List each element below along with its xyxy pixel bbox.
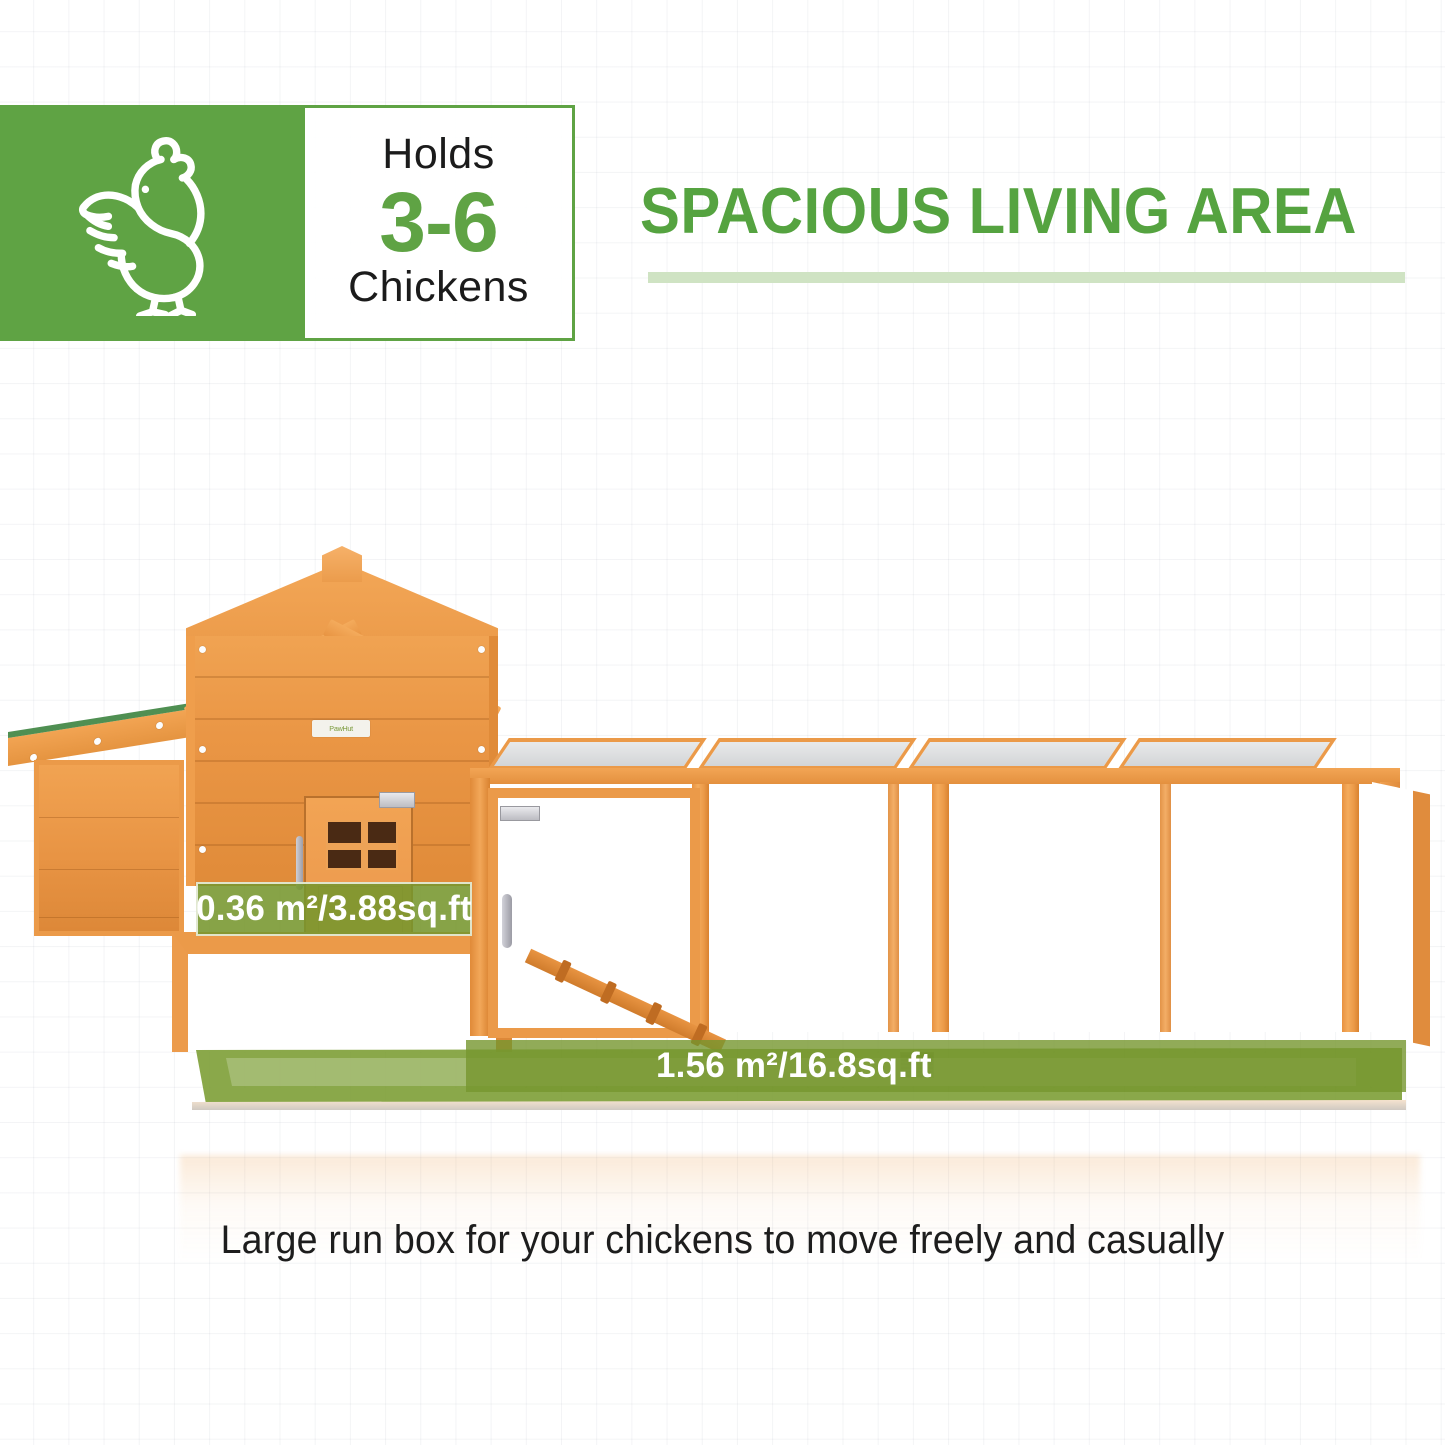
holds-text-panel: Holds 3-6 Chickens	[305, 105, 575, 341]
chicken-icon	[65, 131, 240, 316]
brand-logo-text: PawHut	[329, 724, 353, 732]
run-roof	[470, 738, 1400, 784]
roof-panel	[697, 738, 917, 770]
coop-area-text: 0.36 m²/3.88sq.ft	[196, 889, 472, 929]
holds-capacity-badge: Holds 3-6 Chickens	[0, 105, 575, 341]
brand-logo: PawHut	[312, 720, 370, 737]
holds-unit-label: Chickens	[348, 265, 529, 310]
window-mullion-horizontal	[328, 843, 396, 850]
chicken-ramp	[525, 949, 726, 1053]
title-underline	[648, 272, 1405, 283]
roof-panel	[907, 738, 1127, 770]
holds-count: 3-6	[379, 180, 497, 264]
coop-house: PawHut	[172, 540, 512, 940]
coop-lower-run	[172, 932, 512, 1052]
run-left-stile	[470, 778, 490, 1036]
coop-door-hinge	[379, 792, 415, 808]
run-door-handle[interactable]	[502, 894, 512, 948]
coop-body: PawHut	[186, 636, 498, 886]
roof-panel	[487, 738, 707, 770]
run-post-rear	[1160, 784, 1171, 1032]
run-door[interactable]	[488, 788, 700, 1038]
coop-lower-mesh	[172, 932, 512, 1052]
coop-door-window	[326, 820, 398, 870]
run-area-text: 1.56 m²/16.8sq.ft	[656, 1046, 932, 1086]
run-post	[1342, 784, 1359, 1032]
run-post-rear	[888, 784, 899, 1032]
holds-label: Holds	[382, 132, 494, 177]
roof-panel	[1117, 738, 1337, 770]
nesting-box	[8, 732, 190, 937]
run-end-wall	[1372, 782, 1430, 1046]
nesting-box-body	[34, 760, 184, 936]
chicken-run	[470, 738, 1400, 1068]
run-area-badge: 1.56 m²/16.8sq.ft	[466, 1040, 1406, 1092]
run-post	[932, 784, 949, 1032]
coop-area-badge: 0.36 m²/3.88sq.ft	[196, 882, 472, 936]
page-title: SPACIOUS LIVING AREA	[640, 178, 1358, 243]
caption-text: Large run box for your chickens to move …	[43, 1218, 1401, 1263]
nesting-box-roof	[8, 703, 190, 766]
coop-ridge-cap	[322, 546, 362, 582]
run-door-hinge	[500, 806, 540, 821]
holds-icon-panel	[0, 105, 305, 341]
